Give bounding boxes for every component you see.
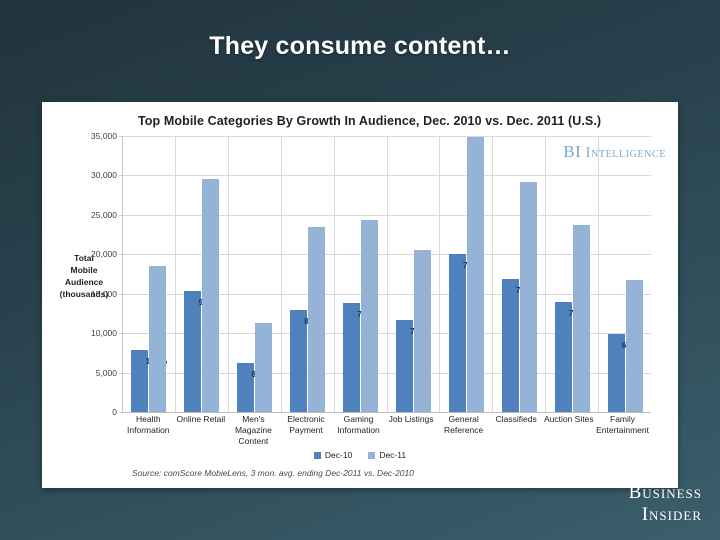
bar-group: 94%	[176, 136, 229, 412]
y-axis-label-line-2: Mobile	[50, 264, 118, 276]
bar-dec10[interactable]: 74%	[449, 254, 466, 413]
chart-title: Top Mobile Categories By Growth In Audie…	[138, 114, 601, 128]
x-axis-label: Health Information	[122, 414, 175, 447]
bar-dec11[interactable]	[467, 137, 484, 412]
bar-dec11[interactable]	[626, 280, 643, 412]
bar-dec11[interactable]	[202, 179, 219, 412]
bar-dec11[interactable]	[414, 250, 431, 412]
plot-area: 05,00010,00015,00020,00025,00030,00035,0…	[122, 136, 651, 412]
legend-label: Dec-10	[325, 450, 352, 460]
legend-item[interactable]: Dec-10	[314, 450, 352, 460]
logo-line-insider: Insider	[629, 504, 702, 526]
y-tick-label: 30,000	[91, 170, 117, 180]
bar-group: 70%	[546, 136, 599, 412]
legend-swatch	[314, 452, 321, 459]
business-insider-logo: Business Insider	[629, 482, 702, 526]
bar-dec11[interactable]	[361, 220, 378, 412]
bar-dec10[interactable]: 80%	[290, 310, 307, 412]
bar-group: 82%	[229, 136, 282, 412]
legend-item[interactable]: Dec-11	[368, 450, 406, 460]
x-axis-label: Auction Sites	[543, 414, 596, 447]
bar-group: 69%	[599, 136, 651, 412]
x-axis-category-labels: Health InformationOnline RetailMen's Mag…	[122, 414, 650, 447]
logo-line-business: Business	[629, 482, 702, 504]
y-tick-label: 10,000	[91, 328, 117, 338]
bar-dec10[interactable]: 70%	[555, 302, 572, 412]
legend-label: Dec-11	[379, 450, 406, 460]
bar-groups: 134%94%82%80%77%74%74%72%70%69%	[123, 136, 651, 412]
bar-dec11[interactable]	[255, 323, 272, 412]
bar-dec11[interactable]	[308, 227, 325, 412]
bar-dec10[interactable]: 74%	[396, 320, 413, 412]
x-axis-label: Job Listings	[385, 414, 438, 447]
bar-dec11[interactable]	[520, 182, 537, 412]
bar-group: 72%	[493, 136, 546, 412]
bar-dec11[interactable]	[149, 266, 166, 412]
gridline	[123, 412, 651, 413]
bar-group: 77%	[335, 136, 388, 412]
bar-dec10[interactable]: 82%	[237, 363, 254, 412]
bar-dec10[interactable]: 72%	[502, 279, 519, 412]
y-tick-label: 35,000	[91, 131, 117, 141]
y-tick-label: 20,000	[91, 249, 117, 259]
bar-group: 74%	[440, 136, 493, 412]
x-axis-label: Classifieds	[490, 414, 543, 447]
chart-legend: Dec-10Dec-11	[42, 450, 678, 460]
x-axis-label: Electronic Payment	[280, 414, 333, 447]
bar-dec10[interactable]: 94%	[184, 291, 201, 412]
bar-dec10[interactable]: 69%	[608, 334, 625, 412]
bar-group: 134%	[123, 136, 176, 412]
y-axis-label-line-3: Audience	[50, 276, 118, 288]
y-tick-label: 15,000	[91, 289, 117, 299]
x-axis-label: Gaming Information	[332, 414, 385, 447]
x-axis-label: Family Entertainment	[595, 414, 650, 447]
y-tick-label: 25,000	[91, 210, 117, 220]
bar-group: 80%	[282, 136, 335, 412]
y-tick-label: 5,000	[96, 368, 117, 378]
y-tick-mark	[119, 412, 123, 413]
bar-group: 74%	[388, 136, 441, 412]
y-tick-label: 0	[112, 407, 117, 417]
bar-dec10[interactable]: 134%	[131, 350, 148, 412]
legend-swatch	[368, 452, 375, 459]
x-axis-label: Online Retail	[175, 414, 228, 447]
bar-dec11[interactable]	[573, 225, 590, 412]
slide-title: They consume content…	[0, 32, 720, 61]
bar-dec10[interactable]: 77%	[343, 303, 360, 412]
chart-source-note: Source: comScore MobieLens, 3 mon. avg. …	[132, 468, 414, 478]
x-axis-label: General Reference	[437, 414, 490, 447]
x-axis-label: Men's Magazine Content	[227, 414, 280, 447]
chart-card: Top Mobile Categories By Growth In Audie…	[42, 102, 678, 488]
